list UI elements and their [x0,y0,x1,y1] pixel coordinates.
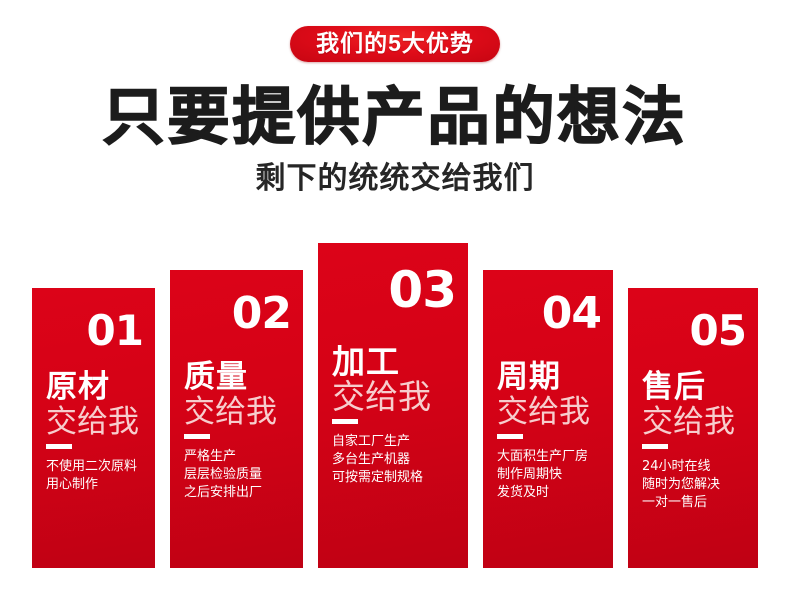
description-line: 可按需定制规格 [332,469,458,487]
divider-dash [46,444,72,449]
divider-dash [497,434,523,439]
description-line: 不使用二次原料 [46,458,145,476]
description-line: 层层检验质量 [184,466,293,484]
description-line: 多台生产机器 [332,451,458,469]
description-line: 24小时在线 [642,458,748,476]
card-content: 质量 交给我 严格生产 层层检验质量 之后安排出厂 [184,360,293,502]
description-line: 发货及时 [497,484,603,502]
card-number: 04 [542,292,601,336]
card-title-bold: 加工 [332,345,458,379]
card-title-light: 交给我 [46,404,145,440]
card-description: 24小时在线 随时为您解决 一对一售后 [642,458,748,512]
card-title-bold: 周期 [497,360,603,394]
description-line: 随时为您解决 [642,476,748,494]
divider-dash [184,434,210,439]
card-content: 周期 交给我 大面积生产厂房 制作周期快 发货及时 [497,360,603,502]
card-description: 自家工厂生产 多台生产机器 可按需定制规格 [332,433,458,487]
card-title-bold: 质量 [184,360,293,394]
card-description: 严格生产 层层检验质量 之后安排出厂 [184,448,293,502]
description-line: 用心制作 [46,476,145,494]
card-title-light: 交给我 [497,394,603,430]
card-content: 加工 交给我 自家工厂生产 多台生产机器 可按需定制规格 [332,345,458,487]
description-line: 制作周期快 [497,466,603,484]
divider-dash [332,419,358,424]
card-content: 售后 交给我 24小时在线 随时为您解决 一对一售后 [642,370,748,512]
card-title-bold: 原材 [46,370,145,404]
advantage-card-05: 05 售后 交给我 24小时在线 随时为您解决 一对一售后 [628,288,758,568]
description-line: 自家工厂生产 [332,433,458,451]
description-line: 一对一售后 [642,494,748,512]
card-number: 03 [388,265,456,315]
card-description: 大面积生产厂房 制作周期快 发货及时 [497,448,603,502]
card-number: 01 [87,310,143,352]
divider-dash [642,444,668,449]
advantage-cards-row: 01 原材 交给我 不使用二次原料 用心制作 02 质量 交给我 严格生产 层层… [0,0,790,597]
card-title-light: 交给我 [642,404,748,440]
card-title-light: 交给我 [184,394,293,430]
card-number: 05 [690,310,746,352]
advantage-card-01: 01 原材 交给我 不使用二次原料 用心制作 [32,288,155,568]
advantage-card-03: 03 加工 交给我 自家工厂生产 多台生产机器 可按需定制规格 [318,243,468,568]
card-number: 02 [232,292,291,336]
description-line: 之后安排出厂 [184,484,293,502]
card-content: 原材 交给我 不使用二次原料 用心制作 [46,370,145,494]
description-line: 大面积生产厂房 [497,448,603,466]
advantage-card-04: 04 周期 交给我 大面积生产厂房 制作周期快 发货及时 [483,270,613,568]
card-description: 不使用二次原料 用心制作 [46,458,145,494]
description-line: 严格生产 [184,448,293,466]
advantage-card-02: 02 质量 交给我 严格生产 层层检验质量 之后安排出厂 [170,270,303,568]
card-title-light: 交给我 [332,379,458,415]
card-title-bold: 售后 [642,370,748,404]
